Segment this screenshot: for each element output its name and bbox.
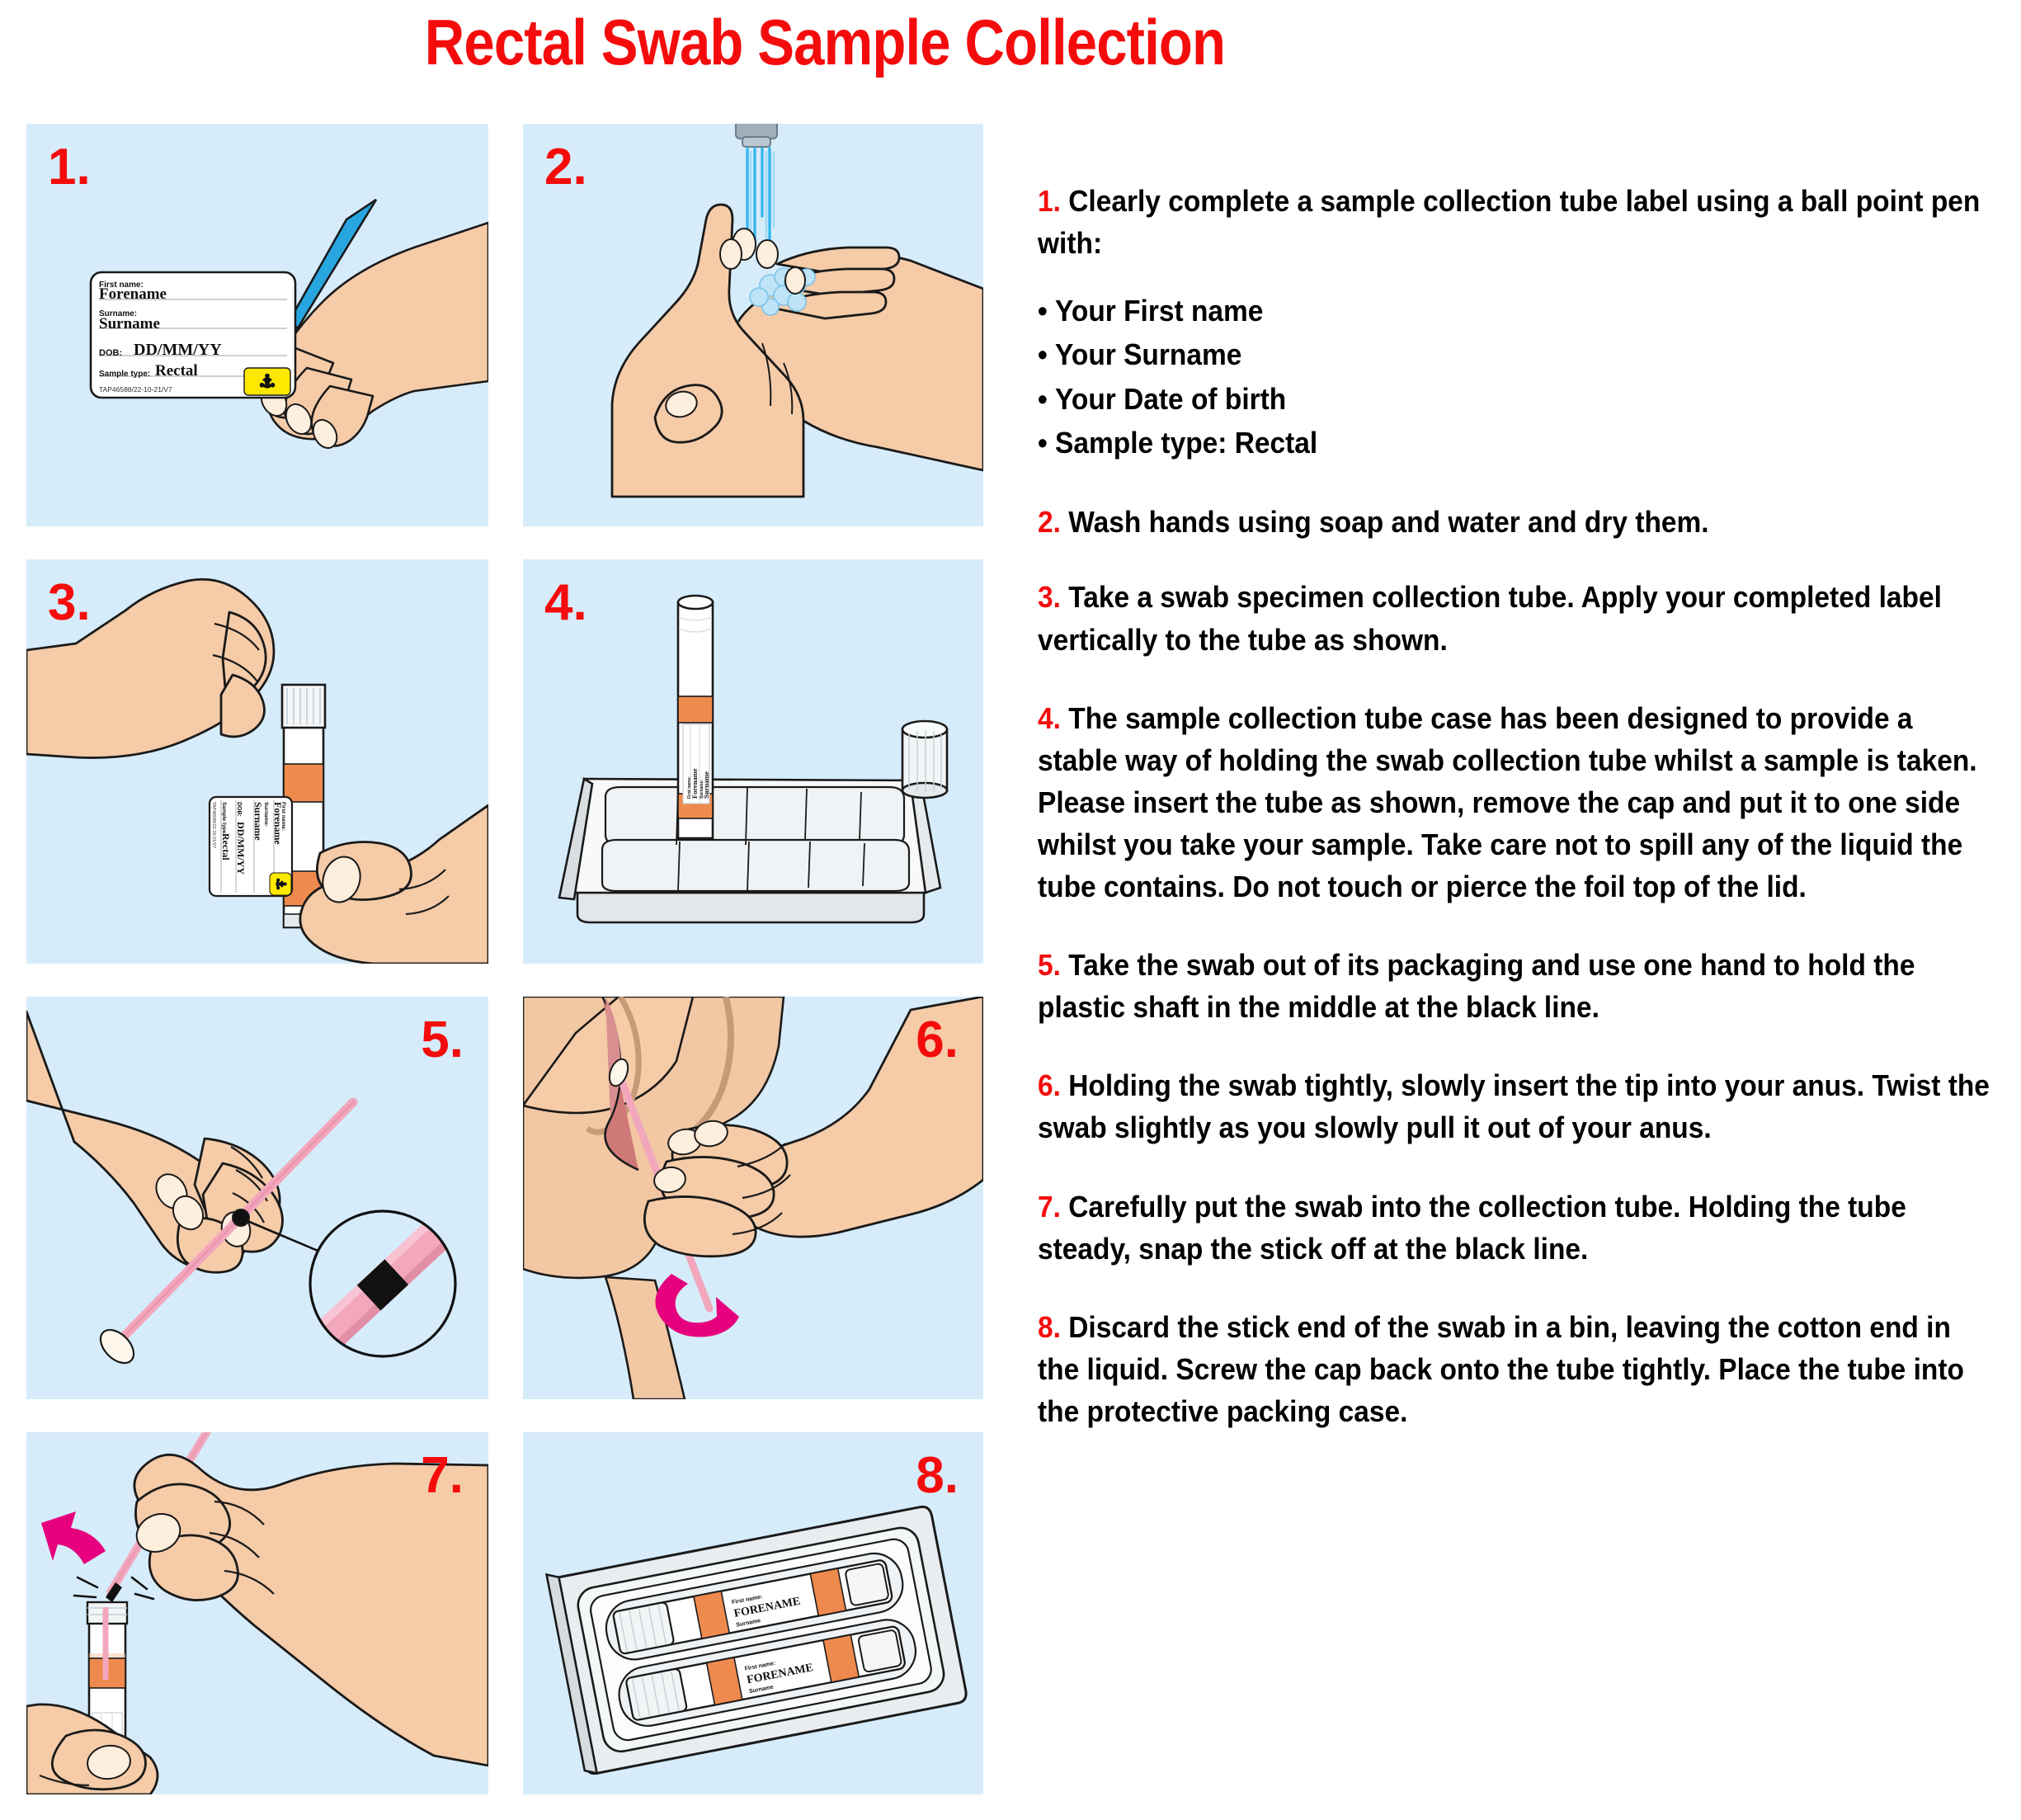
panel-8-tubes-in-case: First name: FORENAME Surname xyxy=(523,1432,983,1794)
illustration-packing-case: First name: FORENAME Surname xyxy=(523,1432,983,1794)
step-number-5: 5. xyxy=(1038,948,1061,982)
svg-text:DOB:: DOB: xyxy=(99,348,122,358)
illustration-snap-stick: First name: Forename Surname: Surname xyxy=(26,1432,488,1794)
instruction-step-4: 4. The sample collection tube case has b… xyxy=(1038,697,1994,908)
step-text-3: Take a swab specimen collection tube. Ap… xyxy=(1038,580,1942,656)
illustration-wash-hands xyxy=(523,124,983,526)
svg-text:TAP46588/22-10-21/V7: TAP46588/22-10-21/V7 xyxy=(99,385,172,394)
svg-text:Rectal: Rectal xyxy=(220,833,232,860)
panel-6-insert-swab: 6. xyxy=(523,997,983,1399)
bullet-date-of-birth: Your Date of birth xyxy=(1038,377,1994,421)
bullet-first-name: Your First name xyxy=(1038,289,1994,332)
svg-text:Forename: Forename xyxy=(99,285,167,303)
panel-3-apply-label-to-tube: First name: Forename Surname: Surname DO… xyxy=(26,559,488,964)
step-number-1: 1. xyxy=(1038,184,1061,218)
applied-label: First name: Forename Surname: Surname DO… xyxy=(210,797,292,896)
svg-text:Sample type:: Sample type: xyxy=(221,802,227,835)
step-text-8: Discard the stick end of the swab in a b… xyxy=(1038,1310,1964,1428)
instructions-column: 1. Clearly complete a sample collection … xyxy=(1038,180,1999,1432)
svg-text:Surname: Surname xyxy=(702,771,710,799)
instruction-step-2: 2. Wash hands using soap and water and d… xyxy=(1038,501,1994,543)
step-1-bullets: Your First name Your Surname Your Date o… xyxy=(1038,289,1994,464)
step-text-5: Take the swab out of its packaging and u… xyxy=(1038,948,1915,1024)
svg-text:Forename: Forename xyxy=(272,802,284,845)
illustration-tube-in-case: First name: Forename Surname: Surname xyxy=(523,559,983,964)
black-line-marker xyxy=(233,1209,249,1226)
illustration-insert-swab xyxy=(523,997,983,1399)
illustration-hold-swab xyxy=(26,997,488,1399)
step-text-1: Clearly complete a sample collection tub… xyxy=(1038,184,1980,260)
instruction-step-1: 1. Clearly complete a sample collection … xyxy=(1038,180,1994,464)
instruction-step-7: 7. Carefully put the swab into the colle… xyxy=(1038,1186,1994,1270)
panel-2-wash-hands: 2. xyxy=(523,124,983,526)
step-text-7: Carefully put the swab into the collecti… xyxy=(1038,1190,1906,1266)
illustration-complete-label: First name: Forename Surname: Surname DO… xyxy=(26,124,488,526)
bullet-surname: Your Surname xyxy=(1038,332,1994,376)
step-text-2: Wash hands using soap and water and dry … xyxy=(1068,505,1708,539)
step-number-6: 6. xyxy=(1038,1068,1061,1102)
panel-5-hold-swab-at-black-line: 5. xyxy=(26,997,488,1399)
step-number-7: 7. xyxy=(1038,1190,1061,1224)
instruction-step-6: 6. Holding the swab tightly, slowly inse… xyxy=(1038,1064,1994,1148)
step-number-3: 3. xyxy=(1038,580,1061,614)
svg-text:Sample type:: Sample type: xyxy=(99,370,150,379)
instruction-step-3: 3. Take a swab specimen collection tube.… xyxy=(1038,576,1994,660)
svg-text:Surname: Surname xyxy=(252,802,264,841)
instruction-step-5: 5. Take the swab out of its packaging an… xyxy=(1038,944,1994,1028)
sample-label-card: First name: Forename Surname: Surname DO… xyxy=(91,272,295,398)
panel-7-snap-stick: First name: Forename Surname: Surname xyxy=(26,1432,488,1794)
illustration-apply-label: First name: Forename Surname: Surname DO… xyxy=(26,559,488,964)
step-number-8: 8. xyxy=(1038,1310,1061,1344)
panel-4-insert-tube-into-case: First name: Forename Surname: Surname 4. xyxy=(523,559,983,964)
svg-text:DOB:: DOB: xyxy=(236,802,242,817)
tap-icon xyxy=(736,124,777,147)
packing-case xyxy=(559,779,940,922)
collection-tube: First name: Forename Surname: Surname xyxy=(678,596,713,838)
svg-text:Rectal: Rectal xyxy=(155,362,198,380)
svg-text:Forename: Forename xyxy=(690,768,699,799)
step-text-4: The sample collection tube case has been… xyxy=(1038,701,1977,903)
svg-text:DD/MM/YY: DD/MM/YY xyxy=(235,822,247,875)
tube-cap xyxy=(902,721,947,798)
step-number-4: 4. xyxy=(1038,701,1061,735)
page-title: Rectal Swab Sample Collection xyxy=(115,5,1534,80)
panel-1-complete-label: First name: Forename Surname: Surname DO… xyxy=(26,124,488,526)
step-number-2: 2. xyxy=(1038,505,1061,539)
svg-text:Surname: Surname xyxy=(99,315,160,332)
bullet-sample-type: Sample type: Rectal xyxy=(1038,421,1994,464)
illustration-grid: First name: Forename Surname: Surname DO… xyxy=(26,124,983,1794)
step-text-6: Holding the swab tightly, slowly insert … xyxy=(1038,1068,1990,1144)
instruction-step-8: 8. Discard the stick end of the swab in … xyxy=(1038,1306,1994,1432)
svg-text:DD/MM/YY: DD/MM/YY xyxy=(134,341,222,359)
svg-text:TAP46588/22-10-21/V7: TAP46588/22-10-21/V7 xyxy=(211,802,216,848)
